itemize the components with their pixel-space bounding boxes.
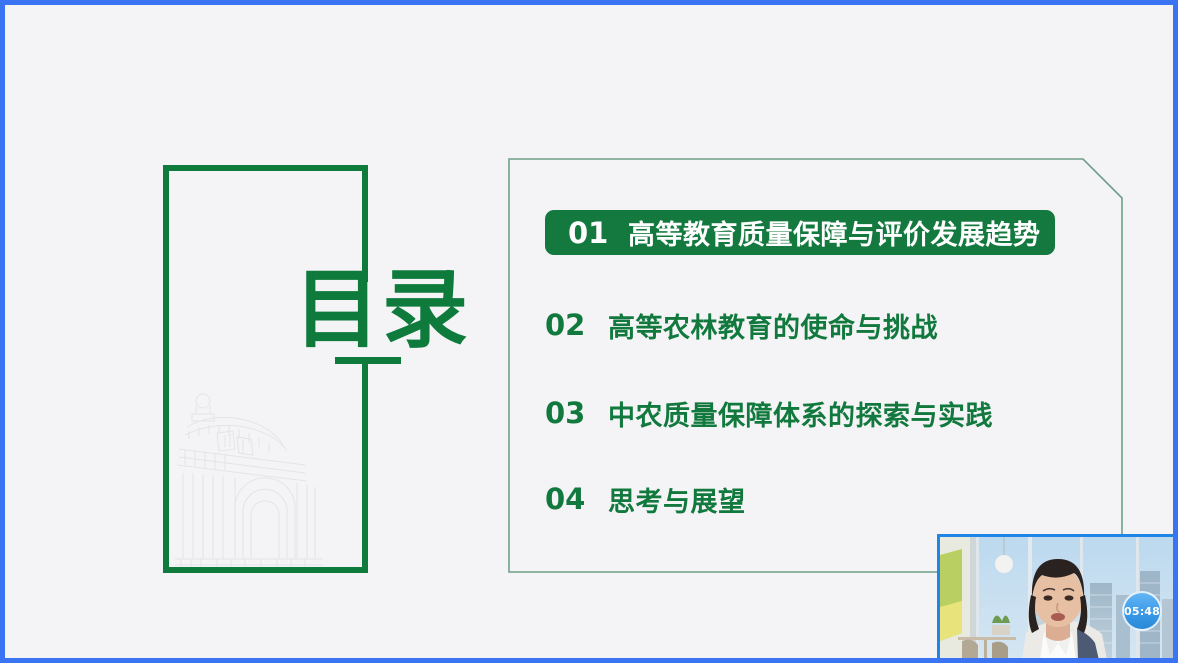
toc-item-02[interactable]: 02 高等农林教育的使命与挑战 [545,302,938,348]
toc-item-03[interactable]: 03 中农质量保障体系的探索与实践 [545,390,993,436]
toc-item-01[interactable]: 01 高等教育质量保障与评价发展趋势 [545,210,1055,255]
frame-top-edge [163,165,368,171]
title-underline-decoration [335,357,401,364]
toc-item-label: 高等农林教育的使命与挑战 [608,306,938,345]
toc-item-number: 02 [545,308,608,342]
frame-left-edge [163,165,169,573]
frame-right-edge-lower [362,360,368,573]
campus-gate-line-art-icon [173,387,325,571]
presentation-slide: 目录 01 高等教育质量保障与评价发展趋势 02 高等农林教育的使命与挑战 03… [5,5,1173,658]
presenter-video-thumbnail[interactable]: 05:48 [937,534,1173,658]
toc-panel: 01 高等教育质量保障与评价发展趋势 02 高等农林教育的使命与挑战 03 中农… [508,158,1123,573]
toc-item-label: 思考与展望 [608,480,746,519]
timer-badge: 05:48 [1122,591,1162,631]
toc-item-label: 高等教育质量保障与评价发展趋势 [628,213,1041,252]
toc-item-list: 01 高等教育质量保障与评价发展趋势 02 高等农林教育的使命与挑战 03 中农… [508,158,1123,573]
toc-item-number: 04 [545,482,608,516]
toc-item-number: 03 [545,396,608,430]
toc-item-number: 01 [568,216,628,250]
toc-item-04[interactable]: 04 思考与展望 [545,476,746,522]
page-title: 目录 [294,267,470,353]
toc-item-label: 中农质量保障体系的探索与实践 [608,394,993,433]
screen-recording-frame: 目录 01 高等教育质量保障与评价发展趋势 02 高等农林教育的使命与挑战 03… [0,0,1178,663]
